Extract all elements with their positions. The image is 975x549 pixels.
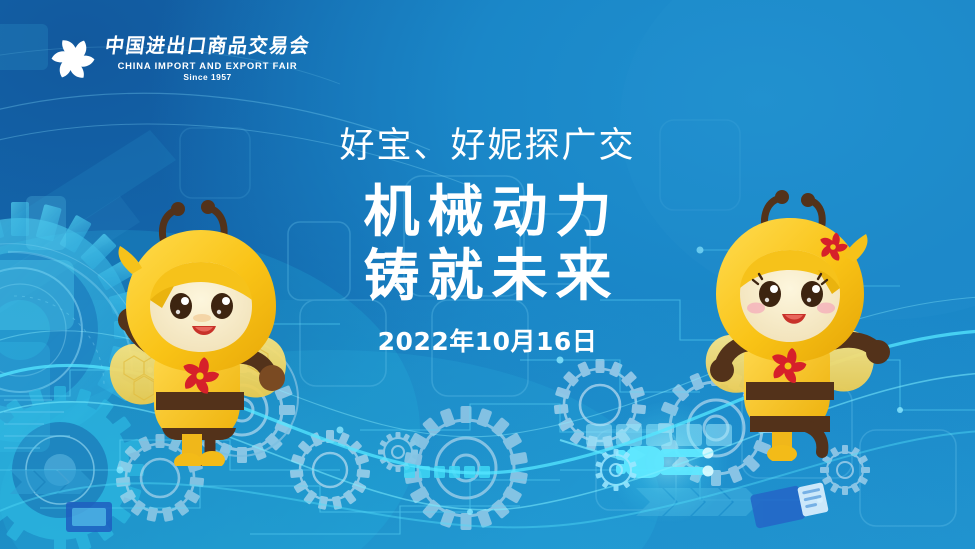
- headline-block: 好宝、好妮探广交 机械动力 铸就未来 2022年10月16日: [0, 126, 975, 358]
- logo-chinese-name: 中国进出口商品交易会: [104, 36, 312, 56]
- poster-date: 2022年10月16日: [0, 322, 975, 358]
- poster-canvas: 中国进出口商品交易会 CHINA IMPORT AND EXPORT FAIR …: [0, 0, 975, 549]
- logo-since-text: Since 1957: [183, 73, 231, 81]
- poster-title-line-1: 机械动力: [0, 183, 975, 243]
- china-import-and-export-fair-logo: 中国进出口商品交易会 CHINA IMPORT AND EXPORT FAIR …: [50, 36, 310, 82]
- poster-subtitle: 好宝、好妮探广交: [0, 126, 975, 167]
- logo-wordmark: 中国进出口商品交易会 CHINA IMPORT AND EXPORT FAIR …: [105, 37, 310, 82]
- logo-english-name: CHINA IMPORT AND EXPORT FAIR: [118, 61, 298, 70]
- poster-title-line-2: 铸就未来: [0, 247, 975, 307]
- kapok-pinwheel-flower-icon: [50, 36, 96, 82]
